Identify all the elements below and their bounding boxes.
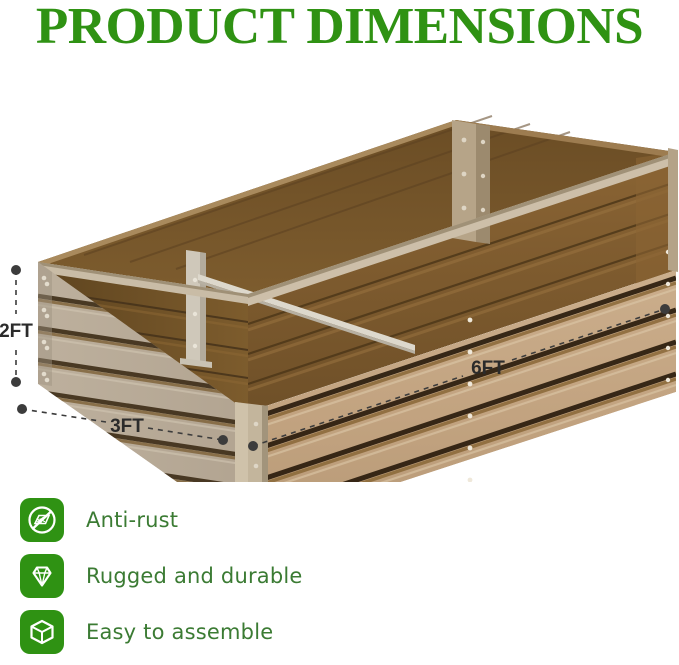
dimension-height: 2FT xyxy=(0,265,33,387)
feature-label-assemble: Easy to assemble xyxy=(86,620,273,644)
dimension-depth-label: 3FT xyxy=(110,416,144,437)
diamond-icon xyxy=(20,554,64,598)
feature-item-rugged: Rugged and durable xyxy=(20,548,420,604)
cube-icon xyxy=(20,610,64,654)
dimension-height-label: 2FT xyxy=(0,321,33,342)
feature-list: Anti-rust Rugged and durable Easy to ass… xyxy=(20,492,420,660)
product-illustration: 2FT 3FT 6FT xyxy=(0,62,679,482)
feature-label-anti-rust: Anti-rust xyxy=(86,508,178,532)
dimension-width-label: 6FT xyxy=(471,358,505,379)
feature-item-anti-rust: Anti-rust xyxy=(20,492,420,548)
anti-rust-icon xyxy=(20,498,64,542)
feature-item-assemble: Easy to assemble xyxy=(20,604,420,660)
page-title: PRODUCT DIMENSIONS xyxy=(0,0,679,56)
feature-label-rugged: Rugged and durable xyxy=(86,564,303,588)
corner-post-right xyxy=(668,148,678,272)
